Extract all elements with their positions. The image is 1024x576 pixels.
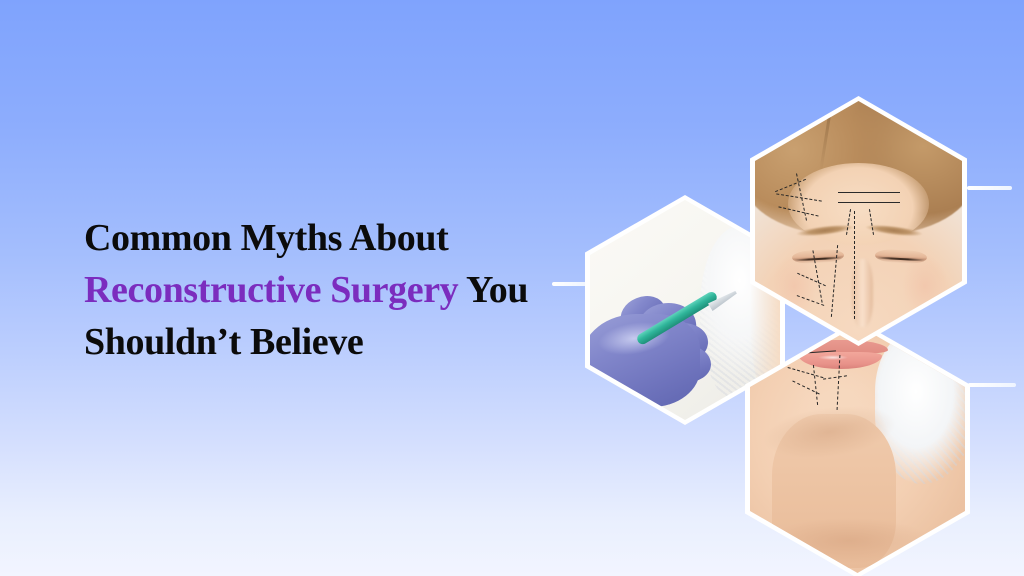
lip-highlight [818, 355, 848, 359]
page-title: Common Myths About Reconstructive Surger… [84, 212, 554, 368]
face-upper-artwork [755, 101, 962, 341]
headline-line-3: Shouldn’t Believe [84, 316, 554, 368]
marking-forehead-line-1 [838, 192, 900, 193]
hexagon-image-collage [560, 70, 1024, 500]
headline-line-1: Common Myths About [84, 212, 554, 264]
lips [793, 340, 888, 367]
marking-midline [854, 211, 855, 319]
connector-line-top-right [967, 186, 1012, 190]
headline-line-2-rest: You [458, 269, 528, 311]
nose-bridge [852, 259, 873, 326]
headline-accent-text: Reconstructive Surgery [84, 269, 458, 311]
banner-canvas: Common Myths About Reconstructive Surger… [0, 0, 1024, 576]
headline-line-2: Reconstructive Surgery You [84, 264, 554, 316]
cheek-right [902, 255, 948, 317]
connector-line-left [552, 282, 587, 286]
hexagon-image-face-upper-frame [755, 101, 962, 341]
connector-line-bottom-right [968, 383, 1016, 387]
collarbone-shadow [767, 518, 930, 563]
marking-forehead-line-2 [838, 202, 900, 203]
